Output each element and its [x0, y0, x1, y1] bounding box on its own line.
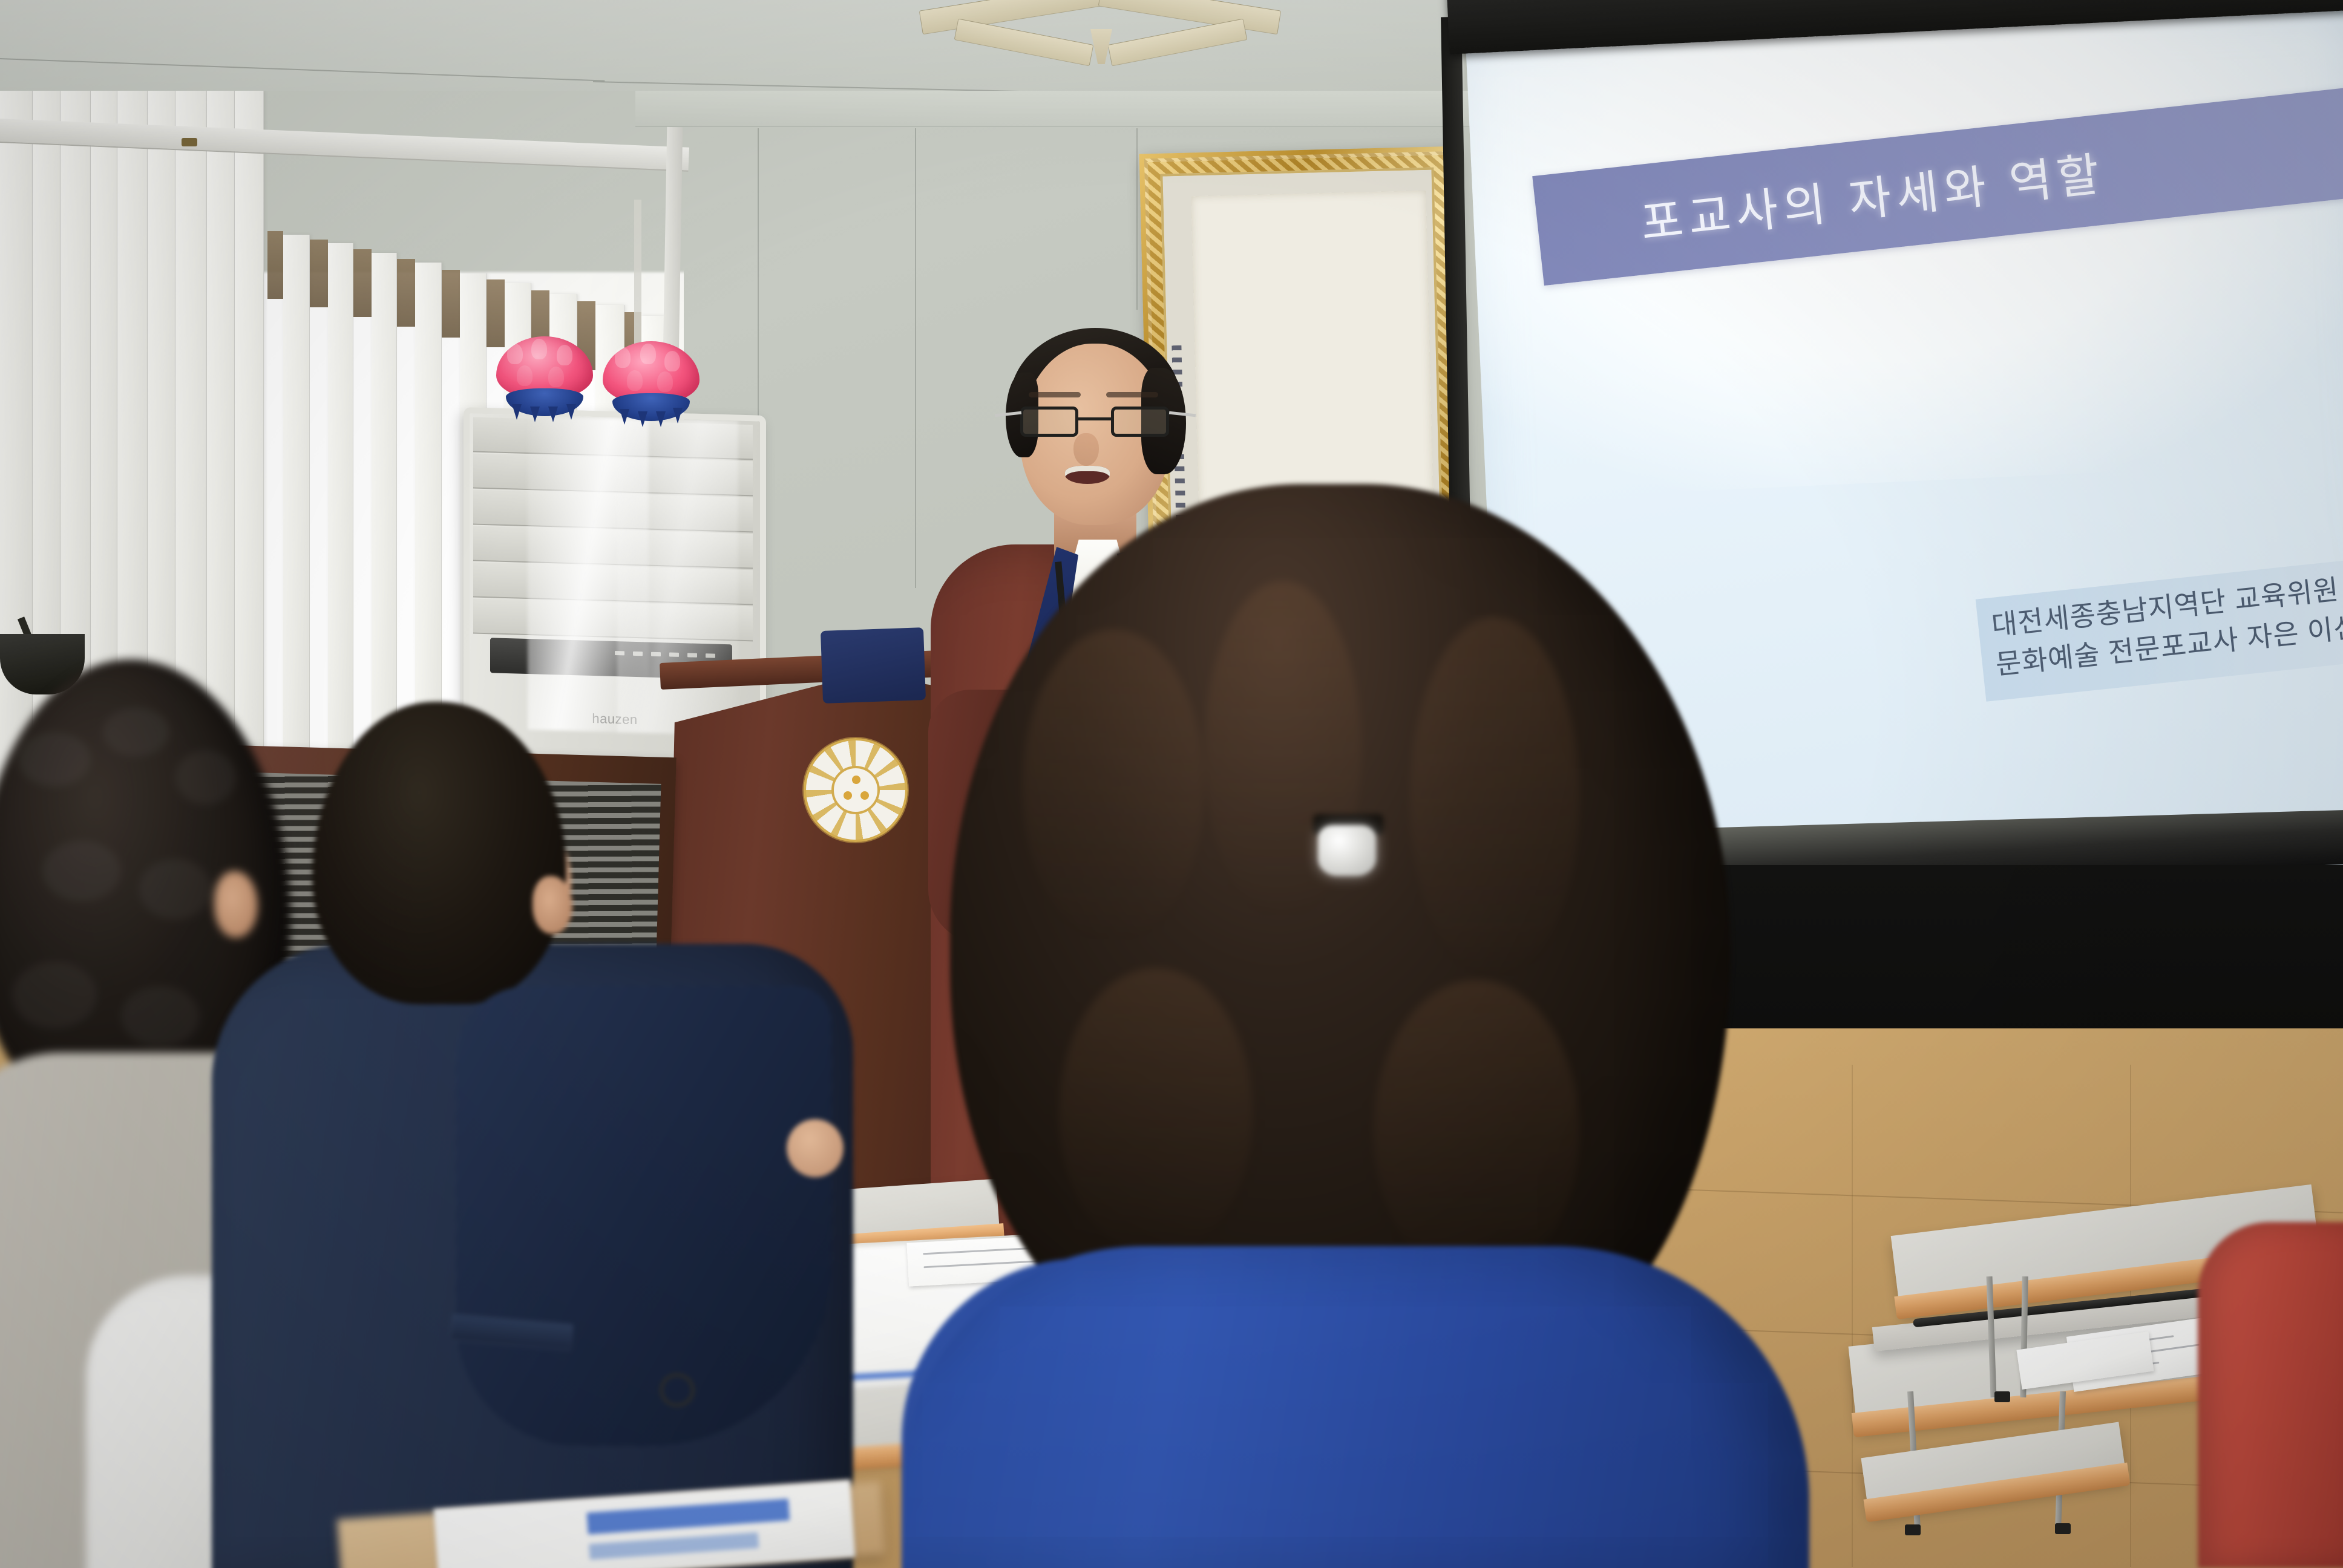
ceiling-fan-icon	[920, 0, 1283, 85]
audience-man-arm	[456, 986, 831, 1446]
audience-foreground-hair	[950, 484, 1731, 1367]
desk-foot	[2055, 1523, 2071, 1534]
audience-man-hand	[787, 1119, 844, 1177]
desk-foot	[1994, 1391, 2010, 1402]
hair-clip[interactable]	[1318, 825, 1376, 876]
wall-panel-seam	[1136, 128, 1138, 310]
eyeglasses-icon	[1020, 407, 1171, 438]
frame-hook	[182, 138, 197, 146]
lotus-lantern-right	[603, 341, 700, 420]
wall-upper-strip	[635, 91, 1501, 127]
chair-back[interactable]	[821, 627, 926, 704]
desk-foot	[1905, 1524, 1921, 1535]
audience-man-zipper-pull	[660, 1373, 695, 1407]
photograph-scene: hauzen	[0, 0, 2343, 1568]
speaker-nose	[1073, 433, 1099, 466]
audience-man-center	[254, 702, 896, 1568]
audience-foreground-blue-top	[902, 1246, 1809, 1568]
audience-left-ear	[214, 871, 258, 938]
slide-subtitle-box: 대전세종충남지역단 교육위원 문화예술 전문포교사 자은 이선준	[1976, 551, 2343, 702]
audience-person-right-edge	[2198, 1222, 2343, 1568]
audience-man-ear	[532, 876, 572, 934]
audience-man-hair	[312, 702, 566, 1004]
lotus-lantern-left	[496, 336, 593, 415]
audience-woman-center-foreground	[950, 472, 1870, 1568]
